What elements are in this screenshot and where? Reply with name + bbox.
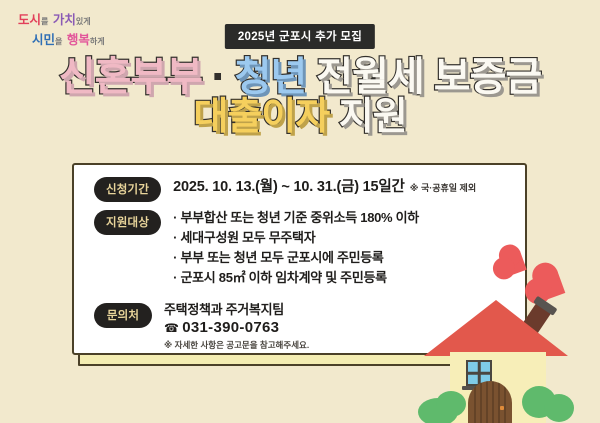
info-card: 신청기간 2025. 10. 13.(월) ~ 10. 31.(금) 15일간※… bbox=[72, 163, 527, 355]
bush-icon bbox=[436, 391, 466, 417]
list-item: · 군포시 85㎡ 이하 임차계약 및 주민등록 bbox=[173, 268, 419, 288]
title-segment-deposit: 전월세 보증금 bbox=[306, 55, 541, 99]
door-icon bbox=[468, 381, 512, 423]
slogan-suffix-hage: 하게 bbox=[90, 37, 105, 46]
phone-icon: ☎ bbox=[164, 321, 179, 335]
title-segment-loan-interest: 대출이자 bbox=[193, 96, 329, 138]
contact-phone-line: ☎031-390-0763 bbox=[164, 318, 309, 338]
window-sill bbox=[462, 386, 496, 390]
application-period-text: 2025. 10. 13.(월) ~ 10. 31.(금) 15일간 bbox=[173, 179, 405, 195]
main-title: 신혼부부 · 청년 전월세 보증금 대출이자 지원 bbox=[0, 58, 600, 136]
slogan-particle-reul: 를 bbox=[41, 17, 48, 26]
recruitment-badge: 2025년 군포시 추가 모집 bbox=[225, 24, 375, 49]
slogan-word-gachi: 가치 bbox=[53, 13, 76, 27]
list-item: · 부부합산 또는 청년 기준 중위소득 180% 이하 bbox=[173, 208, 419, 228]
heart-icon bbox=[533, 270, 566, 301]
slogan-word-simin: 시민 bbox=[32, 33, 55, 47]
city-slogan-logo: 도시를 가치있게 시민을 행복하게 bbox=[18, 10, 105, 50]
poster-root: 도시를 가치있게 시민을 행복하게 2025년 군포시 추가 모집 신혼부부 ·… bbox=[0, 0, 600, 423]
contact-phone-number: 031-390-0763 bbox=[182, 319, 279, 336]
bush-icon bbox=[418, 398, 458, 423]
title-segment-newlyweds: 신혼부부 bbox=[59, 55, 202, 99]
contact-team-name: 주택정책과 주거복지팀 bbox=[164, 301, 309, 319]
title-segment-youth: 청년 bbox=[235, 55, 307, 99]
title-line-1: 신혼부부 · 청년 전월세 보증금 bbox=[0, 58, 600, 97]
title-separator-dot: · bbox=[202, 55, 235, 99]
application-period-body: 2025. 10. 13.(월) ~ 10. 31.(금) 15일간※ 국·공휴… bbox=[173, 175, 476, 196]
list-item: · 세대구성원 모두 무주택자 bbox=[173, 228, 419, 248]
row-application-period: 신청기간 2025. 10. 13.(월) ~ 10. 31.(금) 15일간※… bbox=[94, 175, 515, 202]
pill-contact: 문의처 bbox=[94, 303, 152, 328]
row-contact: 문의처 주택정책과 주거복지팀 ☎031-390-0763 ※ 자세한 사항은 … bbox=[94, 301, 515, 353]
title-line-2: 대출이자 지원 bbox=[0, 99, 600, 136]
bush-icon bbox=[522, 386, 556, 418]
list-item: · 부부 또는 청년 모두 군포시에 주민등록 bbox=[173, 248, 419, 268]
info-rows: 신청기간 2025. 10. 13.(월) ~ 10. 31.(금) 15일간※… bbox=[94, 175, 515, 358]
slogan-line-1: 도시를 가치있게 bbox=[18, 10, 105, 30]
eligibility-body: · 부부합산 또는 청년 기준 중위소득 180% 이하 · 세대구성원 모두 … bbox=[173, 208, 419, 289]
slogan-word-haengbok: 행복 bbox=[67, 33, 90, 47]
application-period-note: ※ 국·공휴일 제외 bbox=[410, 183, 476, 193]
chimney-cap bbox=[533, 296, 557, 316]
pill-eligibility: 지원대상 bbox=[94, 210, 161, 235]
slogan-word-dosi: 도시 bbox=[18, 13, 41, 27]
bush-icon bbox=[544, 394, 574, 422]
row-eligibility: 지원대상 · 부부합산 또는 청년 기준 중위소득 180% 이하 · 세대구성… bbox=[94, 208, 515, 289]
window-mullion-horizontal bbox=[468, 372, 490, 375]
contact-body: 주택정책과 주거복지팀 ☎031-390-0763 ※ 자세한 사항은 공고문을… bbox=[164, 301, 309, 353]
slogan-line-2: 시민을 행복하게 bbox=[18, 30, 105, 50]
pill-application-period: 신청기간 bbox=[94, 177, 161, 202]
slogan-suffix-itge: 있게 bbox=[76, 17, 91, 26]
title-segment-support: 지원 bbox=[329, 96, 406, 138]
slogan-particle-eul: 을 bbox=[55, 37, 62, 46]
door-knob bbox=[500, 406, 504, 410]
contact-note: ※ 자세한 사항은 공고문을 참고해주세요. bbox=[164, 339, 309, 352]
